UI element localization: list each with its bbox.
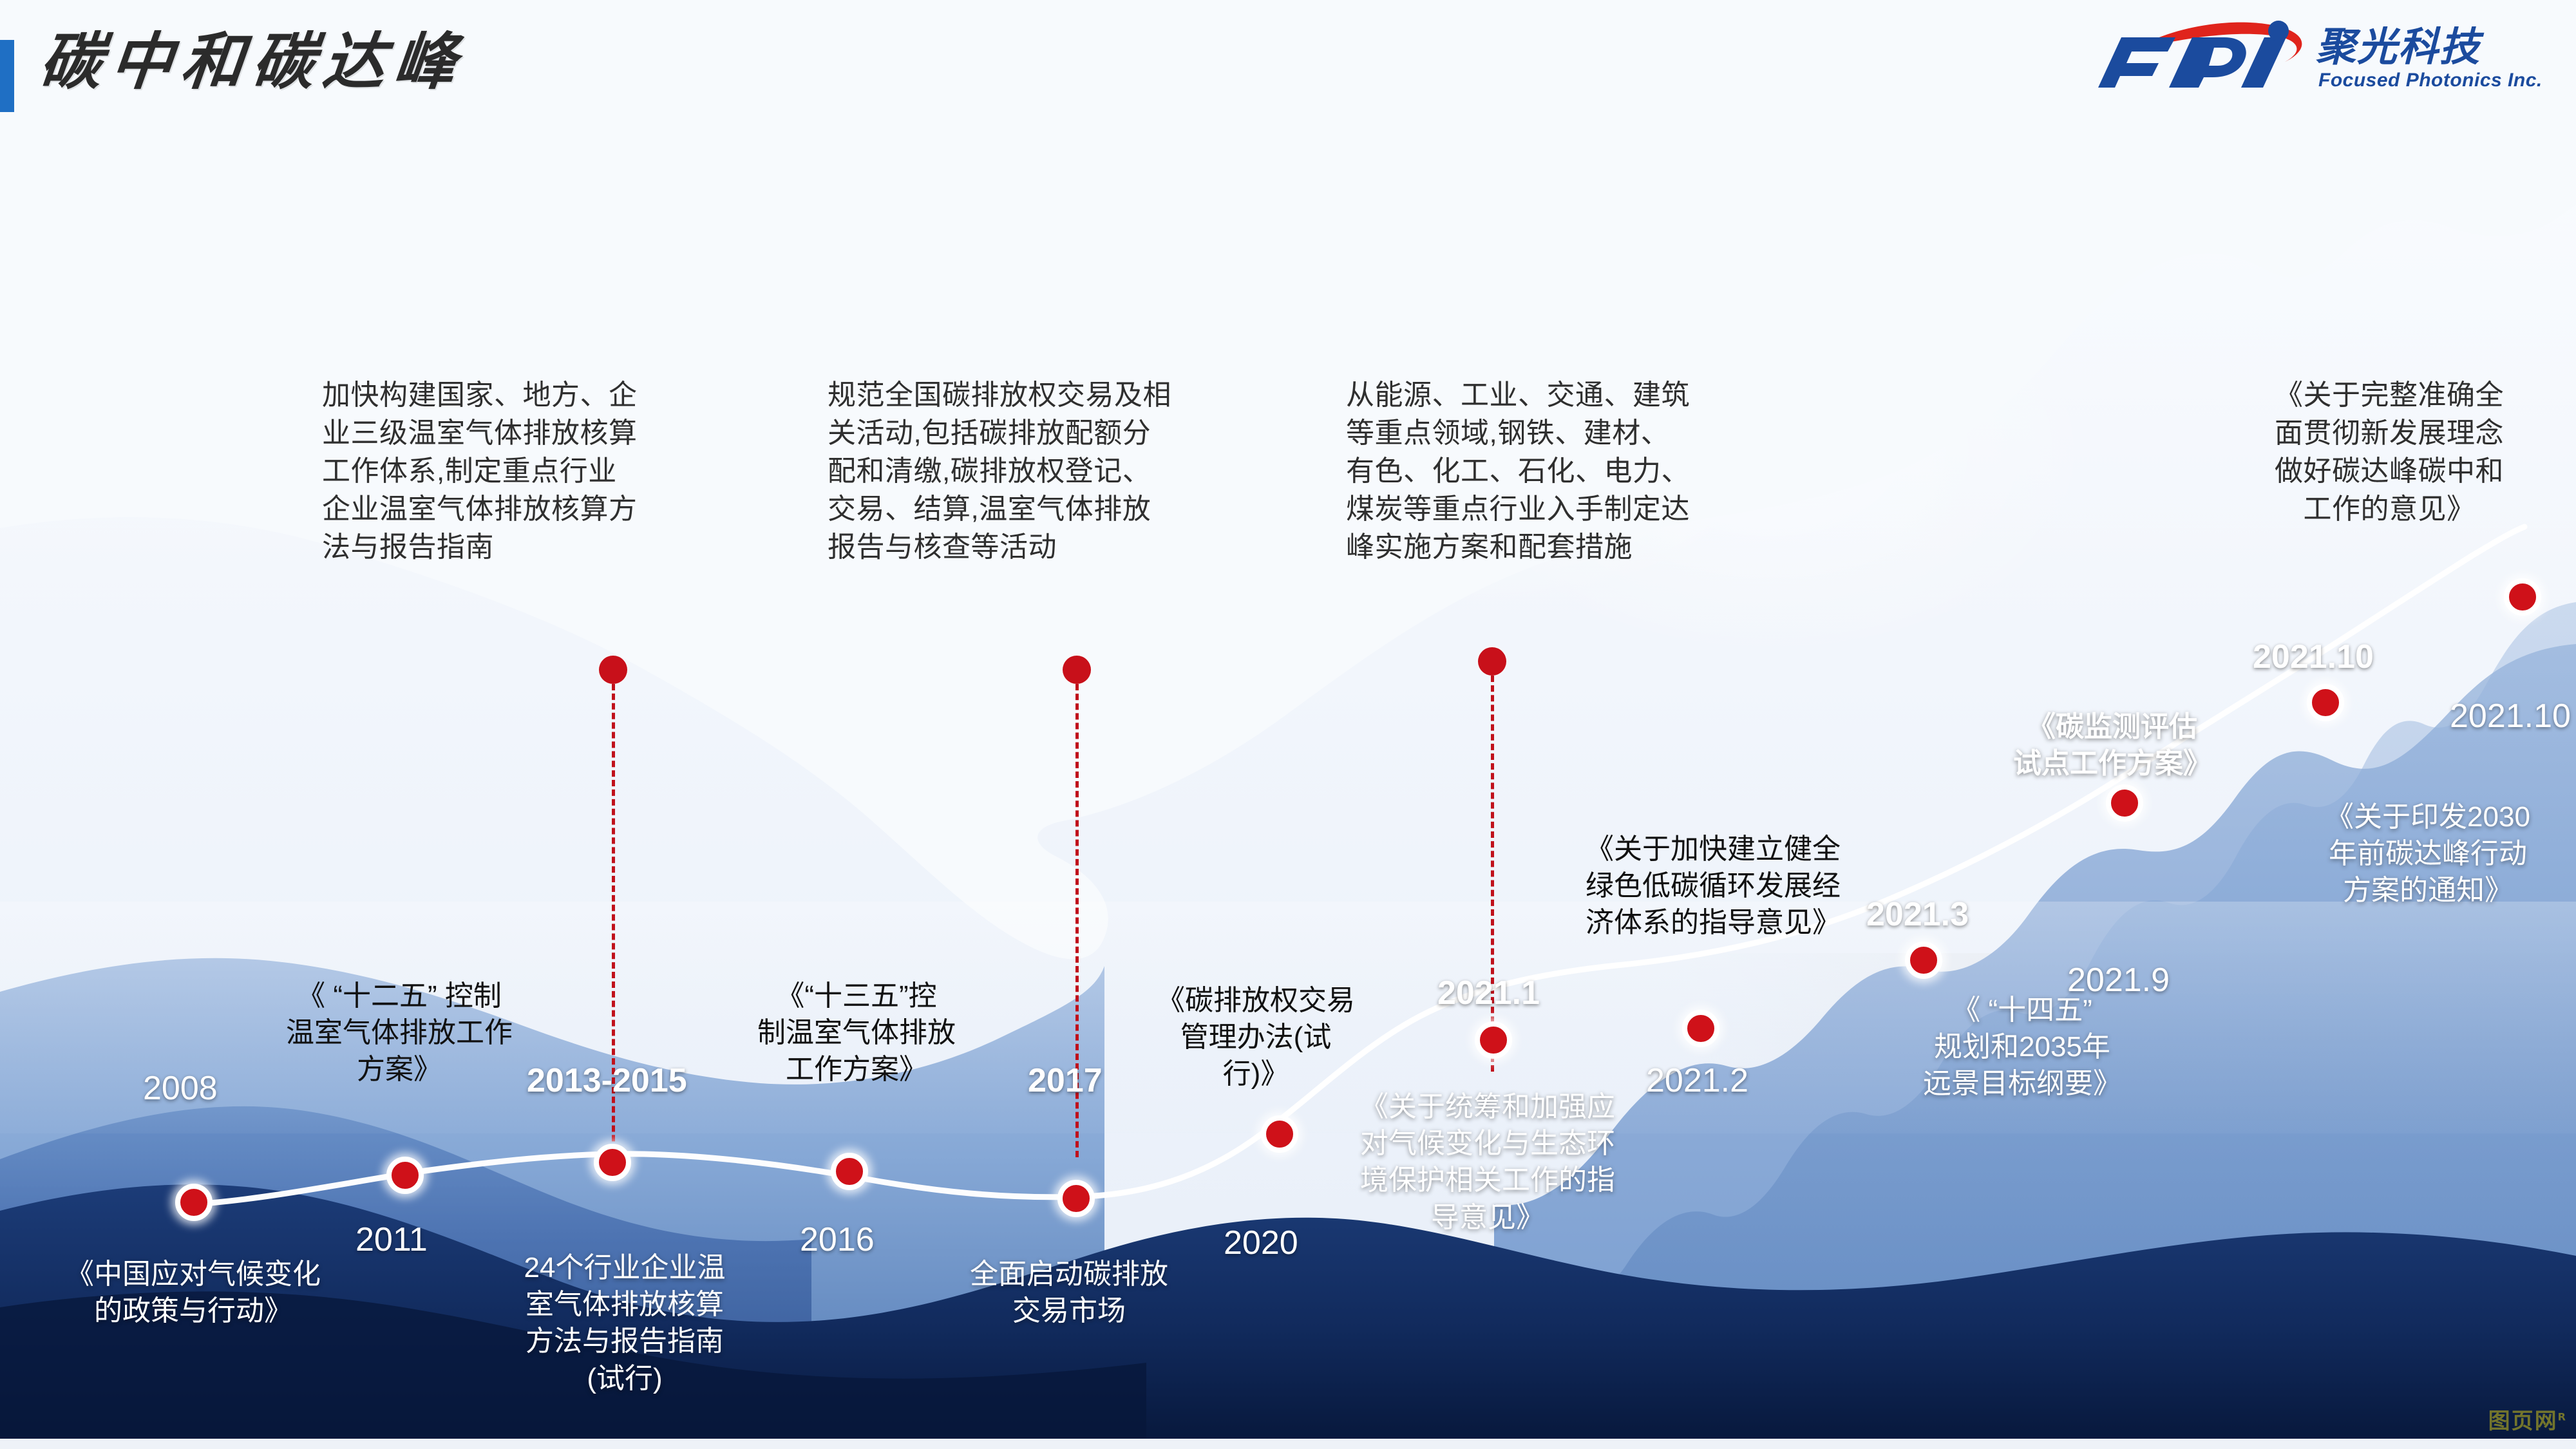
- doc-label-2011: 《 “十二五” 控制 温室气体排放工作 方案》: [213, 978, 586, 1088]
- year-label-2021-10b: 2021.10: [2450, 697, 2571, 735]
- year-label-2016: 2016: [800, 1220, 875, 1259]
- doc-label-2008: 《中国应对气候变化 的政策与行动》: [0, 1256, 386, 1329]
- year-label-2017: 2017: [1028, 1061, 1103, 1100]
- year-label-2021-2: 2021.2: [1646, 1061, 1748, 1100]
- year-label-2021-10a: 2021.10: [2253, 638, 2374, 676]
- doc-label-2021-3: 《 “十四五” 规划和2035年 远景目标纲要》: [1887, 992, 2157, 1103]
- year-label-2021-3: 2021.3: [1866, 895, 1969, 934]
- timeline-node-2011[interactable]: [386, 1157, 424, 1194]
- timeline-node-2016[interactable]: [831, 1153, 868, 1190]
- timeline-node-2021-9[interactable]: [2106, 784, 2143, 822]
- timeline-node-2021-3[interactable]: [1905, 942, 1942, 979]
- timeline-node-2008[interactable]: [175, 1184, 213, 1221]
- timeline-node-2021-10b[interactable]: [2504, 578, 2541, 616]
- timeline-node-2021-1[interactable]: [1475, 1021, 1512, 1059]
- doc-label-2020: 《碳排放权交易 管理办法(试 行)》: [1133, 982, 1378, 1093]
- doc-label-2021-1: 《关于统筹和加强应 对气候变化与生态环 境保护相关工作的指 导意见》: [1327, 1088, 1649, 1236]
- timeline-node-2017[interactable]: [1057, 1180, 1095, 1217]
- doc-label-2021-10a: 《关于印发2030 年前碳达峰行动 方案的通知》: [2286, 799, 2570, 909]
- year-label-2008: 2008: [143, 1069, 218, 1108]
- watermark-registered-mark: R: [2558, 1411, 2567, 1423]
- watermark-text: 图页网: [2488, 1408, 2558, 1434]
- year-label-2011: 2011: [355, 1220, 428, 1259]
- doc-label-2021-2: 《关于加快建立健全 绿色低碳循环发展经 济体系的指导意见》: [1546, 831, 1880, 942]
- year-label-2020: 2020: [1224, 1224, 1298, 1262]
- timeline-node-2020[interactable]: [1261, 1115, 1298, 1153]
- timeline-node-2021-2[interactable]: [1682, 1010, 1719, 1047]
- doc-label-2017: 全面启动碳排放 交易市场: [927, 1256, 1211, 1329]
- doc-label-2021-9: 《碳监测评估 试点工作方案》: [1977, 708, 2248, 782]
- year-label-2021-1: 2021.1: [1437, 974, 1540, 1012]
- timeline-node-2013-2015[interactable]: [594, 1144, 631, 1181]
- bottom-strip: [0, 1439, 2576, 1449]
- doc-label-2013-2015: 24个行业企业温 室气体排放核算 方法与报告指南 (试行): [477, 1249, 773, 1397]
- slide-canvas: 碳中和碳达峰 聚光科技 Focused Photonics Inc. 加快构建国…: [0, 0, 2576, 1449]
- timeline-node-2021-10a[interactable]: [2307, 684, 2344, 721]
- doc-label-2016: 《“十三五”控 制温室气体排放 工作方案》: [721, 978, 992, 1088]
- watermark: 图页网R: [2488, 1403, 2567, 1435]
